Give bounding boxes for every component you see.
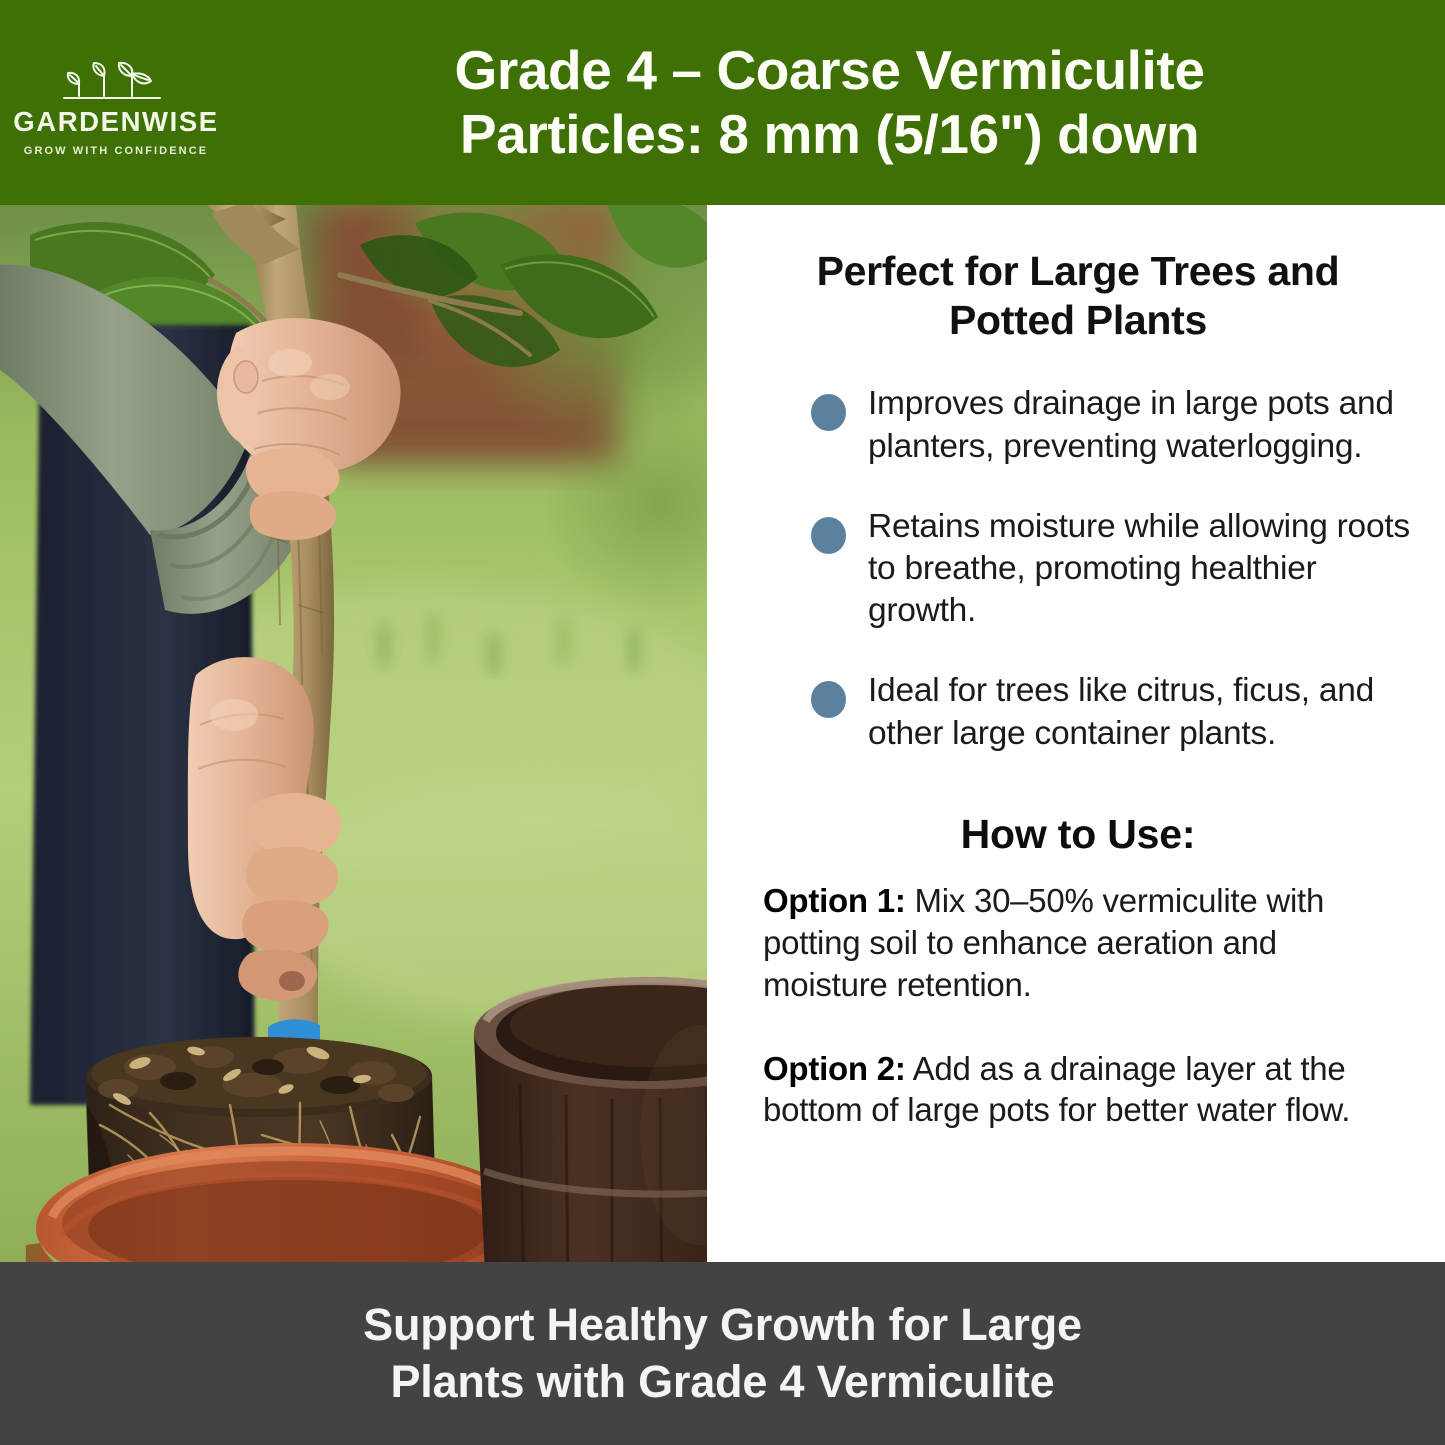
bullet-dot-icon <box>811 517 846 554</box>
option-label: Option 2: <box>763 1050 906 1087</box>
usage-option: Option 2: Add as a drainage layer at the… <box>735 1048 1421 1132</box>
panel-heading: Perfect for Large Trees and Potted Plant… <box>735 247 1421 345</box>
usage-option: Option 1: Mix 30–50% vermiculite with po… <box>735 880 1421 1006</box>
infographic-page: GARDENWISE GROW WITH CONFIDENCE Grade 4 … <box>0 0 1445 1445</box>
footer-line-1: Support Healthy Growth for Large <box>363 1299 1082 1350</box>
footer-line-2: Plants with Grade 4 Vermiculite <box>363 1354 1082 1411</box>
benefits-list: Improves drainage in large pots and plan… <box>735 383 1421 754</box>
bullet-text: Ideal for trees like citrus, ficus, and … <box>868 670 1411 754</box>
bullet-text: Retains moisture while allowing roots to… <box>868 506 1411 633</box>
sprouting-leaves-icon <box>56 54 176 106</box>
bullet-text: Improves drainage in large pots and plan… <box>868 383 1411 467</box>
list-item: Ideal for trees like citrus, ficus, and … <box>735 670 1421 754</box>
bullet-dot-icon <box>811 681 846 718</box>
photo-illustration <box>0 205 707 1262</box>
list-item: Retains moisture while allowing roots to… <box>735 506 1421 633</box>
brand-tagline: GROW WITH CONFIDENCE <box>24 145 208 157</box>
list-item: Improves drainage in large pots and plan… <box>735 383 1421 467</box>
bullet-dot-icon <box>811 394 846 431</box>
header-banner: GARDENWISE GROW WITH CONFIDENCE Grade 4 … <box>0 0 1445 205</box>
title-line-1: Grade 4 – Coarse Vermiculite <box>454 39 1204 101</box>
brand-logo: GARDENWISE GROW WITH CONFIDENCE <box>0 48 232 157</box>
option-label: Option 1: <box>763 882 906 919</box>
how-to-use-heading: How to Use: <box>735 811 1421 858</box>
footer-tagline: Support Healthy Growth for Large Plants … <box>363 1297 1082 1410</box>
page-title: Grade 4 – Coarse Vermiculite Particles: … <box>232 39 1445 167</box>
brand-name: GARDENWISE <box>13 108 218 136</box>
product-photo <box>0 205 707 1262</box>
title-line-2: Particles: 8 mm (5/16") down <box>232 103 1427 167</box>
info-panel: Perfect for Large Trees and Potted Plant… <box>707 205 1445 1262</box>
footer-banner: Support Healthy Growth for Large Plants … <box>0 1262 1445 1445</box>
